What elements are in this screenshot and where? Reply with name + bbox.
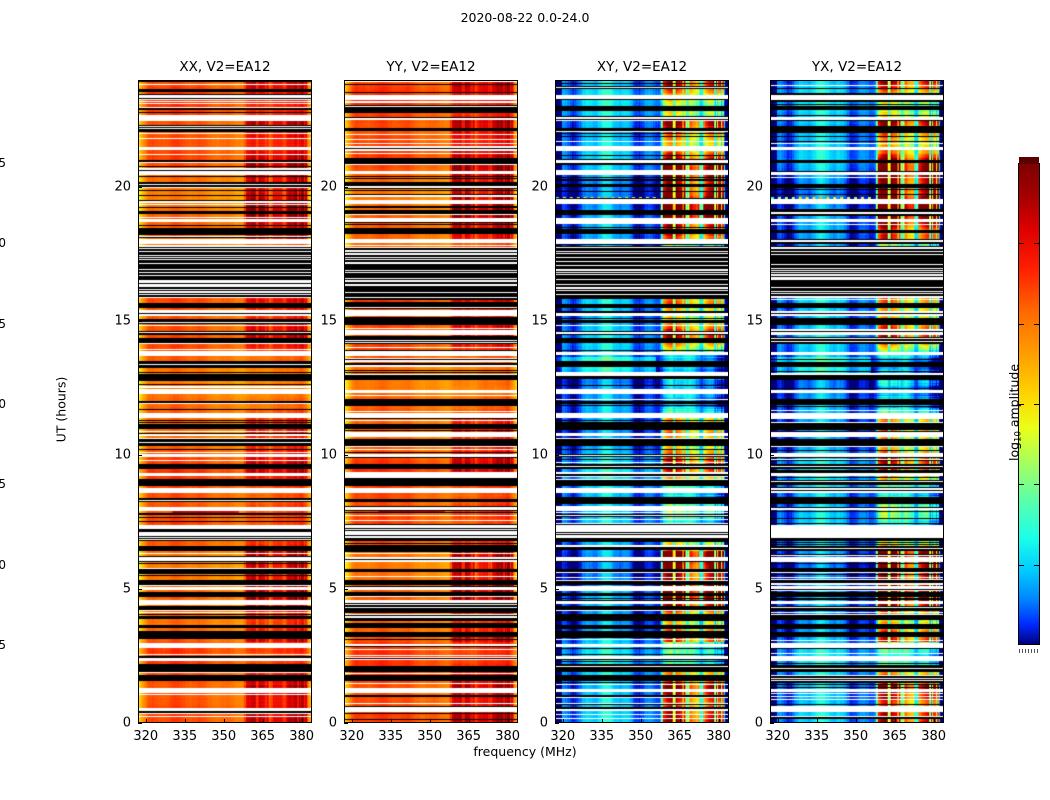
heatmap-image-xy (556, 81, 728, 722)
y-tick-mark (138, 589, 142, 590)
y-tick-label: 20 (98, 180, 131, 195)
figure-title: 2020-08-22 0.0-24.0 (0, 10, 1050, 25)
colorbar-tick-mark (1034, 404, 1040, 405)
colorbar-tick-label: -2.0 (0, 558, 6, 572)
x-tick-label: 380 (495, 729, 520, 744)
x-tick-labels-panel-0: 320335350365380 (138, 729, 312, 749)
y-tick-mark (138, 455, 142, 456)
y-tick-label: 0 (515, 716, 548, 731)
y-tick-mark (770, 455, 774, 456)
y-tick-label: 15 (730, 314, 763, 329)
panel-title-yx: YX, V2=EA12 (770, 59, 944, 75)
x-tick-label: 350 (211, 729, 236, 744)
colorbar-tick-mark (1018, 565, 1024, 566)
y-tick-label: 5 (730, 582, 763, 597)
y-tick-label: 10 (304, 448, 337, 463)
y-tick-label: 5 (515, 582, 548, 597)
colorbar-tick-mark (1018, 484, 1024, 485)
x-tick-label: 350 (417, 729, 442, 744)
y-tick-label: 20 (304, 180, 337, 195)
colorbar-label: log10 amplitude (1007, 303, 1024, 523)
heatmap-image-yx (771, 81, 943, 722)
y-tick-label: 15 (98, 314, 131, 329)
y-tick-label: 10 (98, 448, 131, 463)
heatmap-panel-xy[interactable] (555, 80, 729, 723)
y-tick-mark (138, 187, 142, 188)
x-tick-mark (602, 719, 603, 723)
colorbar-tick-mark (1018, 243, 1024, 244)
heatmap-image-xx (139, 81, 311, 722)
y-tick-mark (138, 723, 142, 724)
panel-title-xx: XX, V2=EA12 (138, 59, 312, 75)
y-tick-mark (138, 321, 142, 322)
y-tick-mark (344, 187, 348, 188)
x-tick-label: 350 (628, 729, 653, 744)
colorbar-tick-label: -2.5 (0, 638, 6, 652)
y-tick-label: 10 (730, 448, 763, 463)
y-tick-mark (344, 455, 348, 456)
x-tick-label: 320 (133, 729, 158, 744)
x-tick-label: 335 (804, 729, 829, 744)
x-tick-mark (817, 719, 818, 723)
x-tick-label: 335 (172, 729, 197, 744)
x-tick-mark (224, 719, 225, 723)
x-tick-mark (719, 719, 720, 723)
colorbar-tick-label: -1.0 (0, 397, 6, 411)
heatmap-image-yy (345, 81, 517, 722)
y-tick-mark (555, 321, 559, 322)
x-tick-label: 365 (882, 729, 907, 744)
x-tick-label: 365 (250, 729, 275, 744)
y-axis-label: UT (hours) (54, 335, 69, 485)
y-tick-mark (344, 723, 348, 724)
y-tick-mark (770, 321, 774, 322)
x-tick-mark (263, 719, 264, 723)
x-tick-label: 320 (765, 729, 790, 744)
x-tick-labels-panel-2: 320335350365380 (555, 729, 729, 749)
colorbar-tick-label: 0.0 (0, 236, 6, 250)
x-tick-label: 365 (667, 729, 692, 744)
x-tick-label: 335 (589, 729, 614, 744)
colorbar-over-cap (1019, 157, 1039, 164)
y-tick-mark (344, 321, 348, 322)
x-tick-label: 335 (378, 729, 403, 744)
x-tick-label: 320 (550, 729, 575, 744)
y-tick-label: 20 (515, 180, 548, 195)
heatmap-panel-yy[interactable] (344, 80, 518, 723)
x-tick-mark (146, 719, 147, 723)
colorbar-tick-mark (1018, 324, 1024, 325)
x-tick-mark (391, 719, 392, 723)
colorbar-tick-label: -0.5 (0, 317, 6, 331)
y-tick-mark (555, 187, 559, 188)
colorbar-tick-mark (1034, 565, 1040, 566)
x-tick-label: 380 (706, 729, 731, 744)
x-tick-label: 380 (289, 729, 314, 744)
heatmap-panel-yx[interactable] (770, 80, 944, 723)
colorbar-under-cap (1019, 649, 1039, 653)
x-tick-mark (563, 719, 564, 723)
y-tick-label: 0 (304, 716, 337, 731)
colorbar-label-suffix: amplitude (1007, 364, 1022, 431)
colorbar-label-subscript: 10 (1014, 431, 1024, 442)
y-tick-mark (770, 589, 774, 590)
y-tick-label: 15 (304, 314, 337, 329)
x-tick-mark (641, 719, 642, 723)
colorbar-tick-label: -1.5 (0, 477, 6, 491)
colorbar-tick-label: 0.5 (0, 156, 6, 170)
y-tick-mark (555, 723, 559, 724)
y-tick-mark (555, 589, 559, 590)
y-tick-label: 5 (304, 582, 337, 597)
x-tick-mark (680, 719, 681, 723)
x-tick-label: 365 (456, 729, 481, 744)
x-tick-mark (430, 719, 431, 723)
x-tick-label: 320 (339, 729, 364, 744)
y-tick-label: 0 (98, 716, 131, 731)
x-tick-labels-panel-3: 320335350365380 (770, 729, 944, 749)
y-tick-mark (770, 723, 774, 724)
x-tick-label: 380 (921, 729, 946, 744)
panel-title-xy: XY, V2=EA12 (555, 59, 729, 75)
x-tick-mark (778, 719, 779, 723)
y-tick-label: 0 (730, 716, 763, 731)
figure-canvas: 2020-08-22 0.0-24.0 XX, V2=EA12 YY, V2=E… (0, 0, 1050, 800)
x-tick-labels-panel-1: 320335350365380 (344, 729, 518, 749)
x-tick-mark (352, 719, 353, 723)
panel-title-yy: YY, V2=EA12 (344, 59, 518, 75)
y-tick-label: 15 (515, 314, 548, 329)
y-tick-label: 10 (515, 448, 548, 463)
colorbar-tick-mark (1034, 484, 1040, 485)
y-tick-mark (770, 187, 774, 188)
colorbar-tick-mark (1034, 324, 1040, 325)
x-tick-mark (185, 719, 186, 723)
y-tick-mark (344, 589, 348, 590)
x-tick-mark (895, 719, 896, 723)
colorbar-tick-mark (1034, 243, 1040, 244)
y-tick-label: 5 (98, 582, 131, 597)
x-tick-mark (302, 719, 303, 723)
y-tick-label: 20 (730, 180, 763, 195)
y-tick-mark (555, 455, 559, 456)
x-tick-mark (469, 719, 470, 723)
x-tick-mark (508, 719, 509, 723)
colorbar-label-prefix: log (1007, 442, 1022, 461)
heatmap-panel-xx[interactable] (138, 80, 312, 723)
x-tick-mark (934, 719, 935, 723)
colorbar-tick-mark (1018, 404, 1024, 405)
x-tick-mark (856, 719, 857, 723)
x-tick-label: 350 (843, 729, 868, 744)
